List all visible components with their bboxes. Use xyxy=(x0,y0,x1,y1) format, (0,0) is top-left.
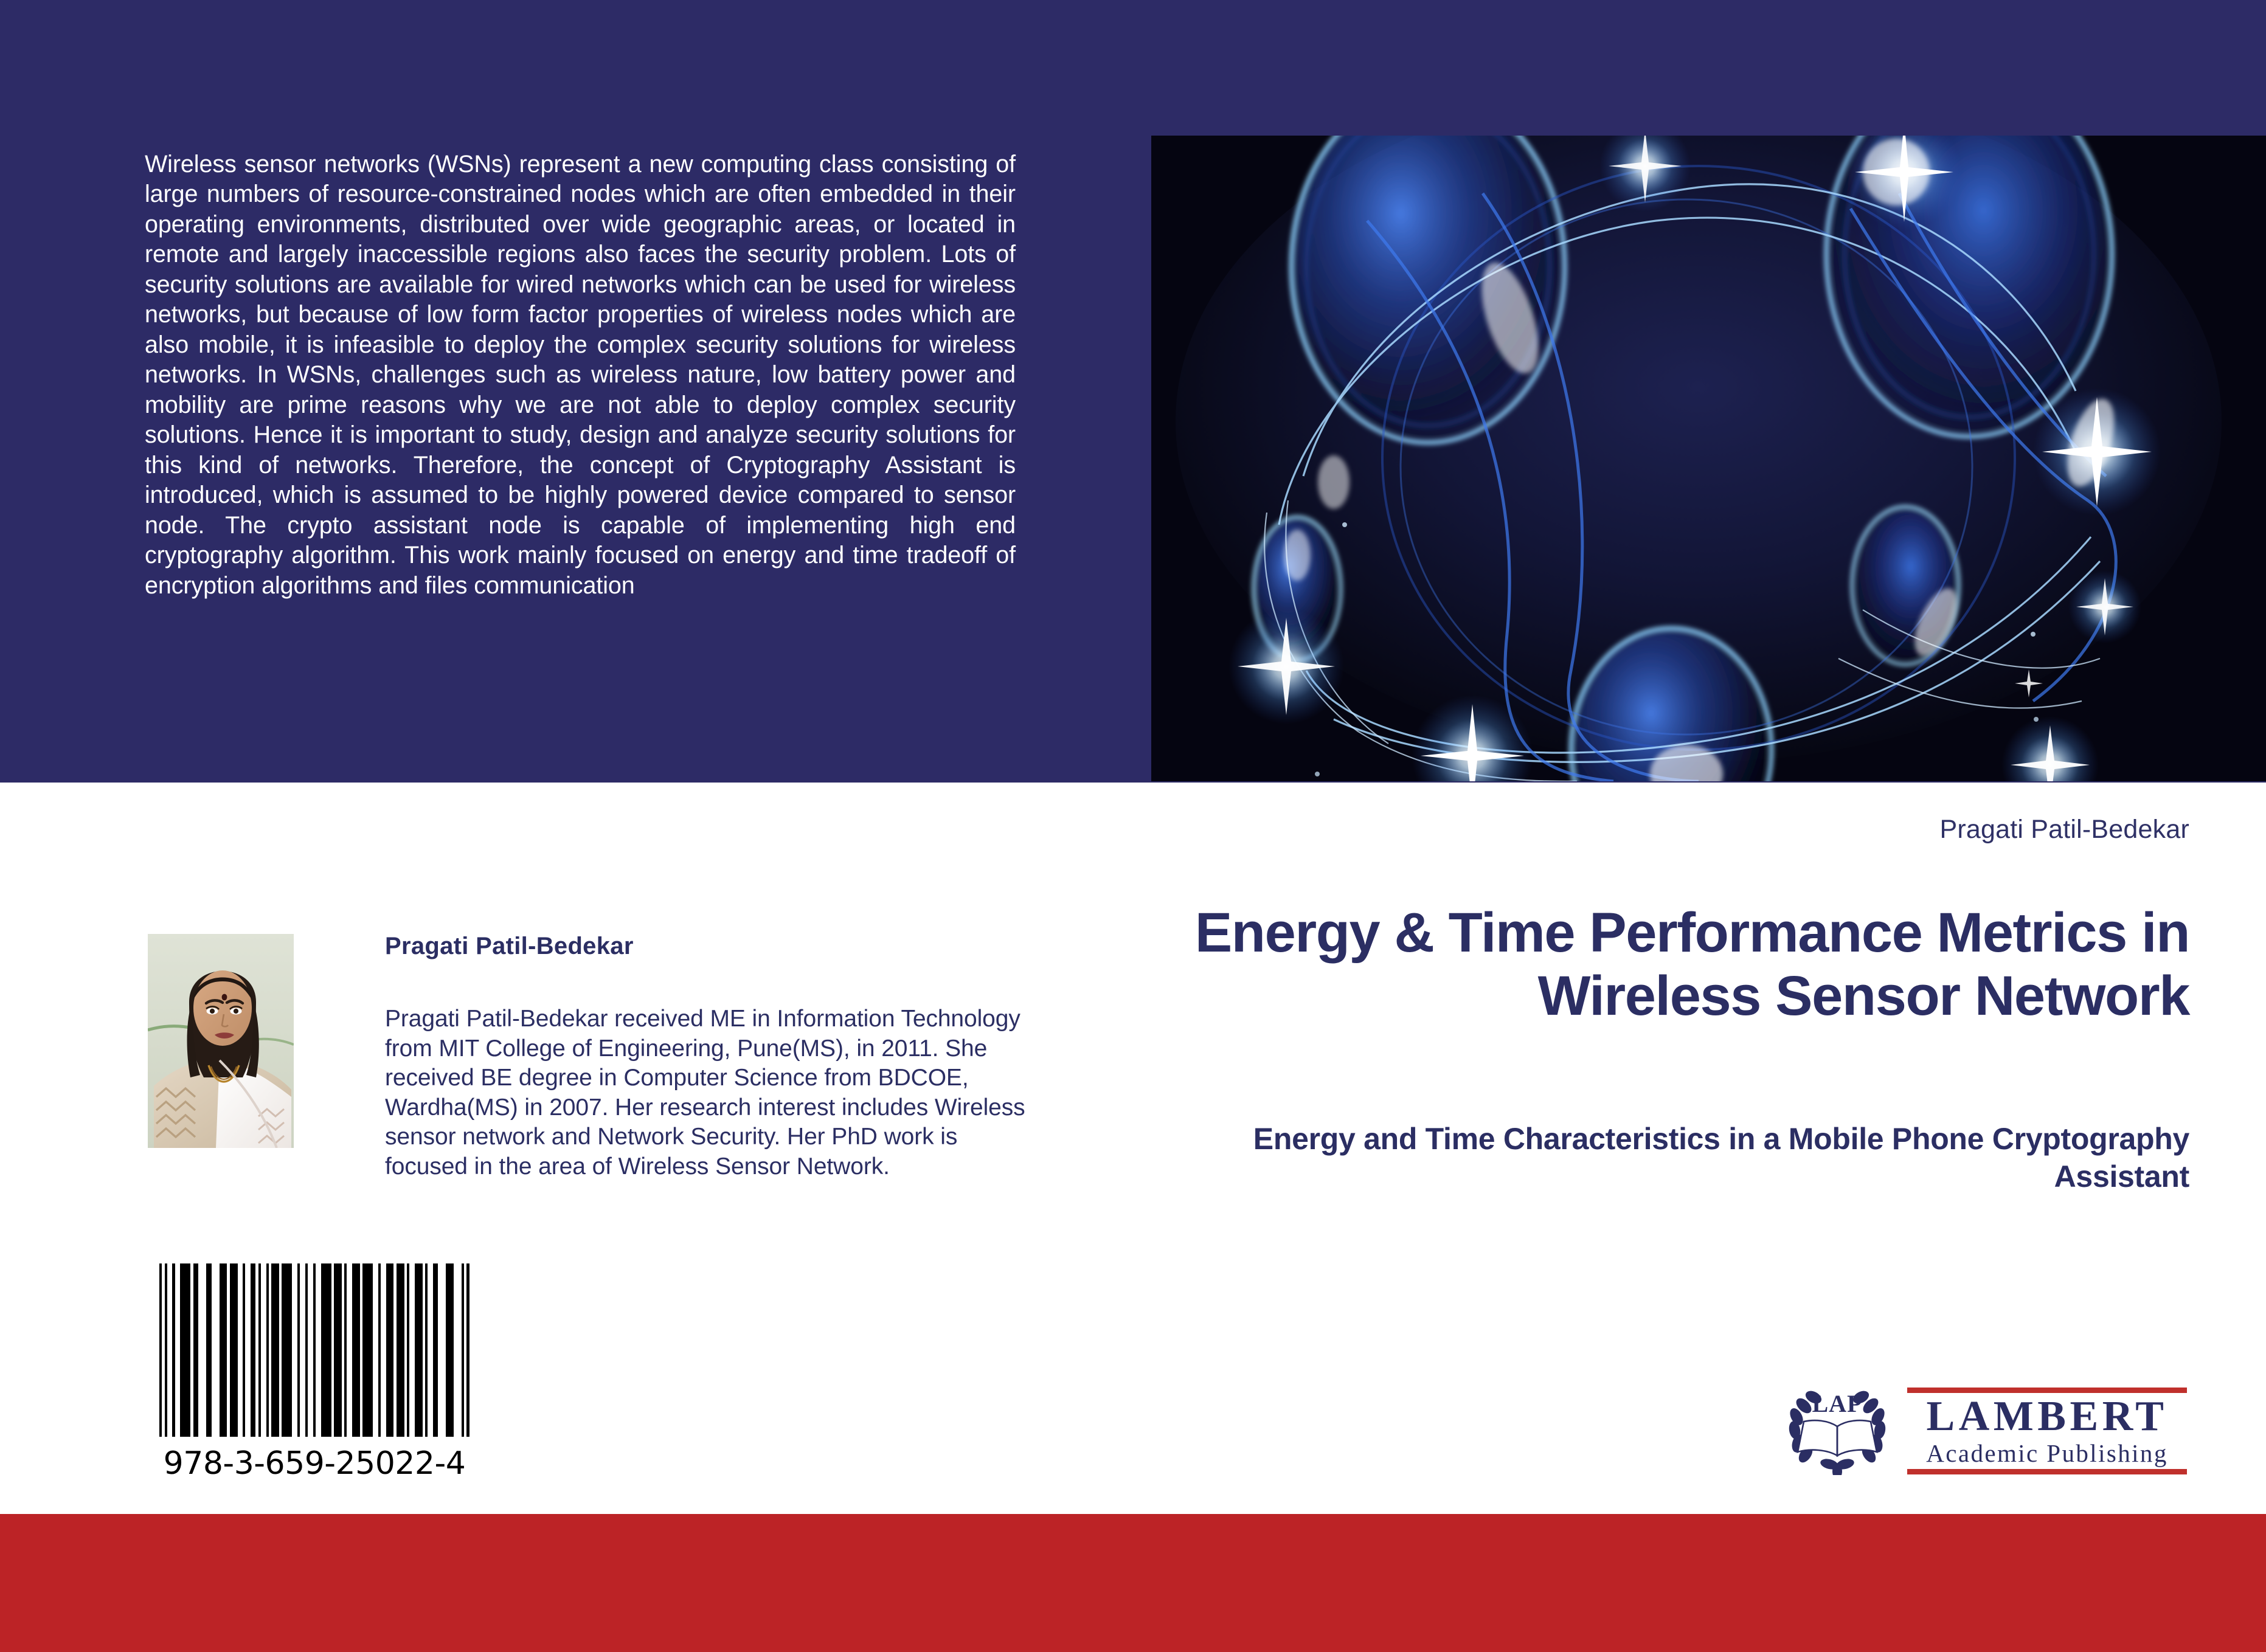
svg-text:LAP: LAP xyxy=(1812,1390,1863,1417)
top-purple-band: Wireless sensor networks (WSNs) represen… xyxy=(0,0,2266,783)
back-cover-author-name: Pragati Patil-Bedekar xyxy=(385,931,634,961)
publisher-logo: LAP LAMBERT Academic Publishing xyxy=(1786,1377,2187,1483)
back-cover-blurb: Wireless sensor networks (WSNs) represen… xyxy=(145,150,1016,601)
author-portrait-photo xyxy=(148,934,294,1148)
abstract-blue-neon-rings-artwork xyxy=(1151,136,2266,781)
author-portrait-illustration xyxy=(148,934,294,1148)
front-cover-title: Energy & Time Performance Metrics in Wir… xyxy=(1156,901,2189,1028)
publisher-tagline: Academic Publishing xyxy=(1907,1439,2187,1469)
logo-rule-bottom xyxy=(1907,1469,2187,1474)
back-cover-author-bio: Pragati Patil-Bedekar received ME in Inf… xyxy=(385,1004,1030,1181)
logo-rule-top xyxy=(1907,1388,2187,1393)
lambert-wordmark: LAMBERT Academic Publishing xyxy=(1907,1388,2187,1474)
lap-laurel-book-icon: LAP xyxy=(1786,1384,1889,1475)
barcode-block: 978-3-659-25022-4 xyxy=(159,1263,469,1482)
front-cover-subtitle: Energy and Time Characteristics in a Mob… xyxy=(1156,1120,2189,1195)
front-cover-author: Pragati Patil-Bedekar xyxy=(1216,814,2189,845)
bottom-red-band xyxy=(0,1514,2266,1652)
isbn-ean13-barcode xyxy=(159,1263,469,1437)
front-cover-artwork xyxy=(1151,136,2266,781)
isbn-number: 978-3-659-25022-4 xyxy=(159,1445,469,1482)
publisher-name: LAMBERT xyxy=(1907,1393,2187,1439)
